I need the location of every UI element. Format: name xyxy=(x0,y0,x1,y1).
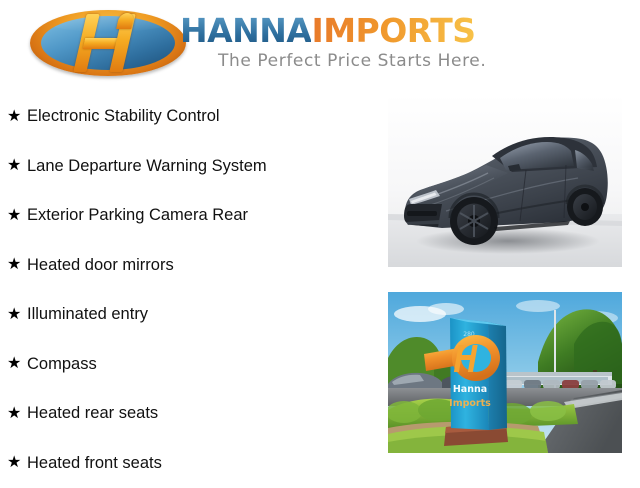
star-bullet-icon: ★ xyxy=(7,109,27,125)
vehicle-photo-image xyxy=(388,94,622,267)
list-item: ★ Heated door mirrors xyxy=(0,241,372,291)
brand-header: HANNAIMPORTS The Perfect Price Starts He… xyxy=(0,0,640,86)
star-bullet-icon: ★ xyxy=(7,406,27,422)
list-item: ★ Heated front seats xyxy=(0,439,372,488)
hanna-oval-h-logo-icon xyxy=(30,10,186,76)
list-item: ★ Heated rear seats xyxy=(0,389,372,439)
list-item: ★ Lane Departure Warning System xyxy=(0,142,372,192)
svg-text:Imports: Imports xyxy=(449,398,491,409)
logo-h-glyph xyxy=(74,14,144,72)
svg-text:Hanna: Hanna xyxy=(453,384,487,395)
front-wheel xyxy=(450,197,498,245)
star-bullet-icon: ★ xyxy=(7,158,27,174)
star-bullet-icon: ★ xyxy=(7,307,27,323)
vehicle-photo xyxy=(388,94,622,267)
feature-label: Lane Departure Warning System xyxy=(27,157,267,176)
star-bullet-icon: ★ xyxy=(7,257,27,273)
list-item: ★ Electronic Stability Control xyxy=(0,92,372,142)
list-item: ★ Illuminated entry xyxy=(0,290,372,340)
star-bullet-icon: ★ xyxy=(7,208,27,224)
star-bullet-icon: ★ xyxy=(7,455,27,471)
brand-tagline: The Perfect Price Starts Here. xyxy=(218,51,486,71)
list-item: ★ Compass xyxy=(0,340,372,390)
feature-label: Exterior Parking Camera Rear xyxy=(27,206,248,225)
feature-label: Compass xyxy=(27,355,97,374)
vehicle-features-list: ★ Electronic Stability Control ★ Lane De… xyxy=(0,92,372,488)
rear-wheel xyxy=(567,188,603,226)
wordmark-hanna: HANNA xyxy=(180,11,311,50)
feature-label: Illuminated entry xyxy=(27,305,148,324)
dealership-photo-image: 280 Hanna Imports xyxy=(388,292,622,453)
feature-label: Heated front seats xyxy=(27,454,162,473)
dealership-photo: 280 Hanna Imports xyxy=(388,292,622,453)
feature-label: Heated door mirrors xyxy=(27,256,174,275)
wordmark-imports: IMPORTS xyxy=(311,11,475,50)
star-bullet-icon: ★ xyxy=(7,356,27,372)
list-item: ★ Exterior Parking Camera Rear xyxy=(0,191,372,241)
brand-wordmark: HANNAIMPORTS xyxy=(180,14,476,47)
feature-label: Electronic Stability Control xyxy=(27,107,220,126)
feature-label: Heated rear seats xyxy=(27,404,158,423)
